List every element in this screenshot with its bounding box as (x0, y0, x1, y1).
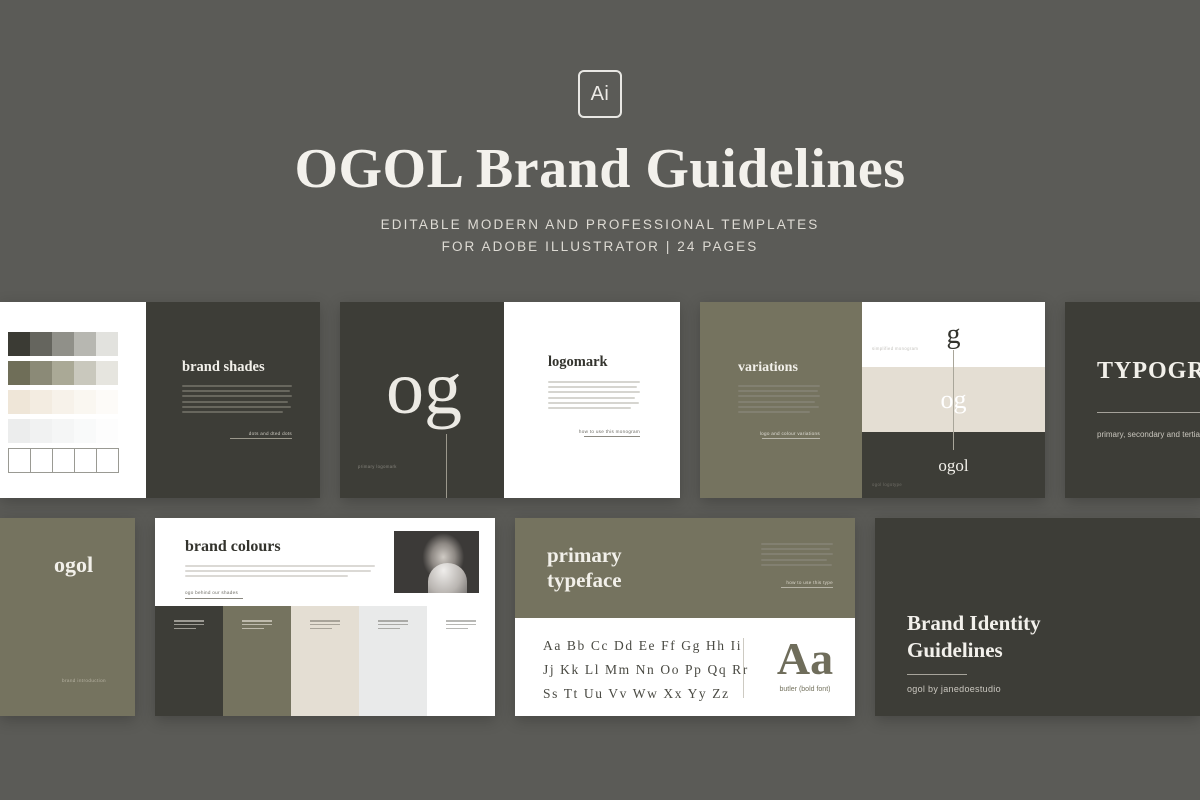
row-gap (1045, 302, 1065, 498)
template-row-top: brand shades dots and dted dots og prima… (0, 302, 1200, 498)
variation-label: g (947, 321, 961, 349)
colour-swatch[interactable] (223, 606, 291, 716)
card-title-line-2: typeface (547, 568, 622, 592)
swatch-value-labels (174, 620, 204, 631)
link-underline (230, 438, 292, 439)
card-typography[interactable]: TYPOGRAPHY primary, secondary and tertia… (1065, 302, 1200, 498)
wordmark-ogol: ogol (54, 552, 93, 578)
typeface-sample-block: Aa butler (bold font) (767, 638, 843, 693)
card-title: logomark (548, 354, 640, 371)
card-title: brand colours (185, 538, 375, 556)
card-brand-identity-guidelines[interactable]: Brand Identity Guidelines ogol by janedo… (875, 518, 1200, 716)
row-gap (320, 302, 340, 498)
row-gap (855, 518, 875, 716)
card-variations[interactable]: variations logo and colour variations g … (700, 302, 1045, 498)
brand-portrait-image (394, 531, 479, 593)
vertical-rule (743, 638, 744, 698)
card-title: Brand Identity Guidelines (907, 610, 1041, 664)
brand-shades-swatch-panel (0, 302, 146, 498)
card-title: primary typeface (547, 543, 622, 593)
title-underline (907, 674, 967, 675)
body-text-placeholder (185, 565, 375, 577)
badge-label: Ai (591, 83, 610, 106)
monogram-og: og (386, 350, 462, 426)
card-title: variations (738, 360, 820, 376)
body-text-placeholder (761, 543, 833, 566)
monogram-caption: primary logomark (358, 464, 397, 469)
primary-typeface-header-panel: primary typeface how to use this type (515, 518, 855, 618)
swatch-value-labels (310, 620, 340, 631)
card-subtitle: primary, secondary and tertiary (1097, 430, 1200, 439)
row-gap (680, 302, 700, 498)
card-title-line-1: primary (547, 543, 622, 567)
page-subtitle-secondary: FOR ADOBE ILLUSTRATOR | 24 PAGES (0, 239, 1200, 254)
card-link-label[interactable]: how to use this monogram (548, 429, 640, 434)
alphabet-row: Aa Bb Cc Dd Ee Ff Gg Hh Ii (543, 638, 749, 654)
row-gap (495, 518, 515, 716)
vertical-rule (446, 434, 447, 498)
link-underline (762, 438, 820, 439)
page-header: Ai OGOL Brand Guidelines EDITABLE MODERN… (0, 0, 1200, 254)
vertical-rule (953, 350, 954, 450)
variation-micro-caption: simplified monogram (872, 346, 918, 351)
logomark-text-panel: logomark how to use this monogram (504, 302, 680, 498)
variations-text-panel: variations logo and colour variations (700, 302, 862, 498)
card-brand-introduction[interactable]: ogol brand introduction (0, 518, 135, 716)
adobe-illustrator-badge-icon: Ai (578, 70, 622, 118)
page-subtitle-primary: EDITABLE MODERN AND PROFESSIONAL TEMPLAT… (0, 217, 1200, 232)
link-underline (584, 436, 640, 437)
card-link-label[interactable]: logo and colour variations (738, 431, 820, 436)
logomark-monogram-panel: og primary logomark (340, 302, 504, 498)
body-text-placeholder (182, 385, 292, 413)
brand-colours-header-panel: brand colours ogo behind our shades (155, 518, 495, 606)
swatch-row (8, 390, 118, 414)
link-underline (185, 598, 243, 599)
alphabet-row: Jj Kk Ll Mm Nn Oo Pp Qq Rr (543, 662, 749, 678)
card-link-label[interactable]: how to use this type (761, 580, 833, 585)
primary-typeface-specimen-panel: Aa Bb Cc Dd Ee Ff Gg Hh Ii Jj Kk Ll Mm N… (515, 618, 855, 716)
swatch-value-labels (242, 620, 272, 631)
swatch-row-outlined (8, 448, 118, 473)
colour-swatch[interactable] (291, 606, 359, 716)
variations-bottom-caption: ogol logotype (872, 482, 902, 487)
card-title-line-1: Brand Identity (907, 611, 1041, 635)
alphabet-block: Aa Bb Cc Dd Ee Ff Gg Hh Ii Jj Kk Ll Mm N… (543, 638, 749, 710)
colour-swatch[interactable] (359, 606, 427, 716)
brand-shades-text-panel: brand shades dots and dted dots (146, 302, 320, 498)
card-title-line-2: Guidelines (907, 638, 1003, 662)
card-link-label[interactable]: ogo behind our shades (185, 590, 375, 595)
variations-band-panel: g simplified monogram og ogol ogol logot… (862, 302, 1045, 498)
swatch-row (8, 419, 118, 443)
card-caption: brand introduction (62, 678, 106, 683)
swatch-value-labels (378, 620, 408, 631)
template-row-bottom: ogol brand introduction brand colours og… (0, 518, 1200, 716)
card-title: TYPOGRAPHY (1097, 358, 1200, 385)
alphabet-row: Ss Tt Uu Vv Ww Xx Yy Zz (543, 686, 749, 702)
card-brand-colours[interactable]: brand colours ogo behind our shades (155, 518, 495, 716)
card-logomark[interactable]: og primary logomark logomark how to use … (340, 302, 680, 498)
row-gap (135, 518, 155, 716)
swatch-value-labels (446, 620, 476, 631)
brand-colours-swatch-strip (155, 606, 495, 716)
card-title: brand shades (182, 359, 292, 376)
colour-swatch[interactable] (427, 606, 495, 716)
link-underline (781, 587, 833, 588)
title-underline (1097, 412, 1200, 413)
colour-swatch[interactable] (155, 606, 223, 716)
swatch-row (8, 332, 118, 356)
body-text-placeholder (548, 381, 640, 409)
card-brand-shades[interactable]: brand shades dots and dted dots (0, 302, 320, 498)
card-link-label[interactable]: dots and dted dots (182, 431, 292, 436)
card-subtitle: ogol by janedoestudio (907, 684, 1041, 694)
typeface-sample-caption: butler (bold font) (767, 686, 843, 693)
variation-label: ogol (938, 457, 968, 474)
typeface-sample: Aa (767, 638, 843, 679)
swatch-row (8, 361, 118, 385)
body-text-placeholder (738, 385, 820, 413)
card-primary-typeface[interactable]: primary typeface how to use this type Aa… (515, 518, 855, 716)
page-title: OGOL Brand Guidelines (0, 140, 1200, 199)
